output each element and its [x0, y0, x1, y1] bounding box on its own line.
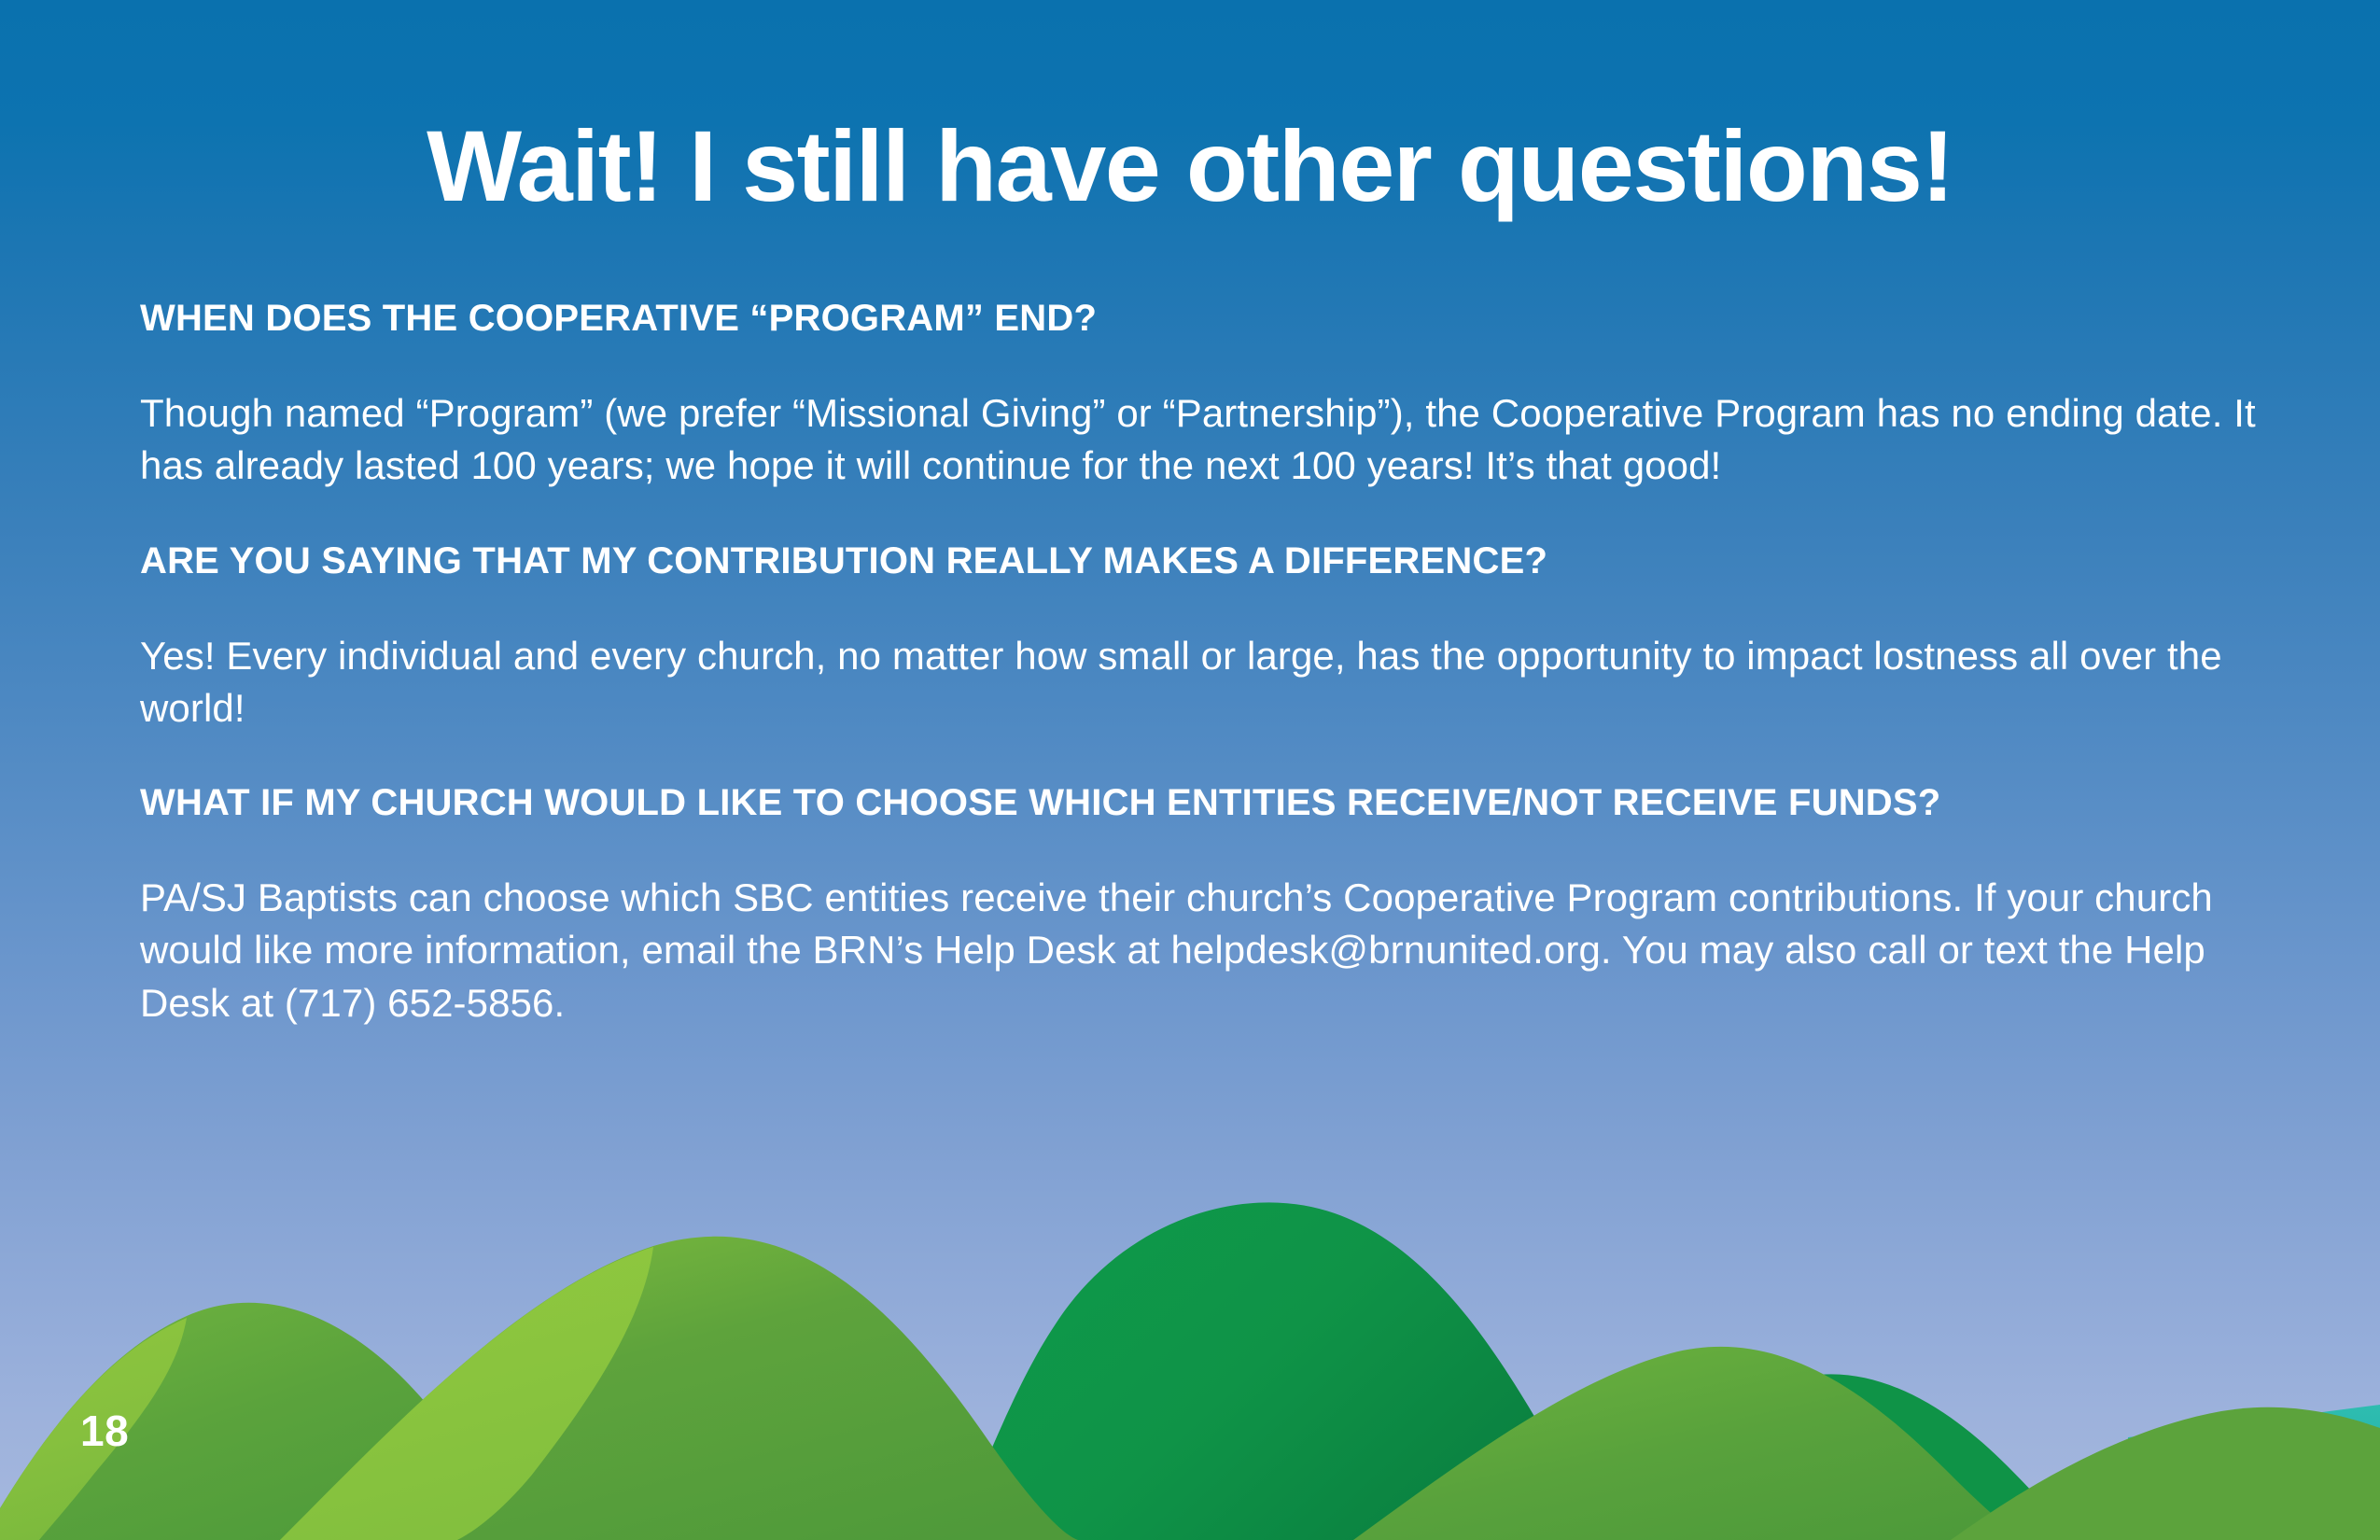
slide-canvas: Wait! I still have other questions! WHEN… — [0, 0, 2380, 1540]
spacer — [140, 824, 2259, 872]
spacer — [140, 735, 2259, 781]
spacer — [140, 493, 2259, 539]
spacer — [140, 340, 2259, 387]
qa-heading-3: WHAT IF MY CHURCH WOULD LIKE TO CHOOSE W… — [140, 781, 2259, 824]
page-number: 18 — [80, 1406, 129, 1456]
qa-heading-2: ARE YOU SAYING THAT MY CONTRIBUTION REAL… — [140, 539, 2259, 582]
qa-answer-1: Though named “Program” (we prefer “Missi… — [140, 387, 2259, 493]
spacer — [140, 582, 2259, 630]
slide-content: Wait! I still have other questions! WHEN… — [0, 0, 2380, 1540]
qa-list: WHEN DOES THE COOPERATIVE “PROGRAM” END?… — [140, 297, 2259, 1029]
qa-answer-3: PA/SJ Baptists can choose which SBC enti… — [140, 872, 2259, 1029]
page-title: Wait! I still have other questions! — [0, 116, 2380, 217]
qa-answer-2: Yes! Every individual and every church, … — [140, 630, 2259, 735]
qa-heading-1: WHEN DOES THE COOPERATIVE “PROGRAM” END? — [140, 297, 2259, 340]
